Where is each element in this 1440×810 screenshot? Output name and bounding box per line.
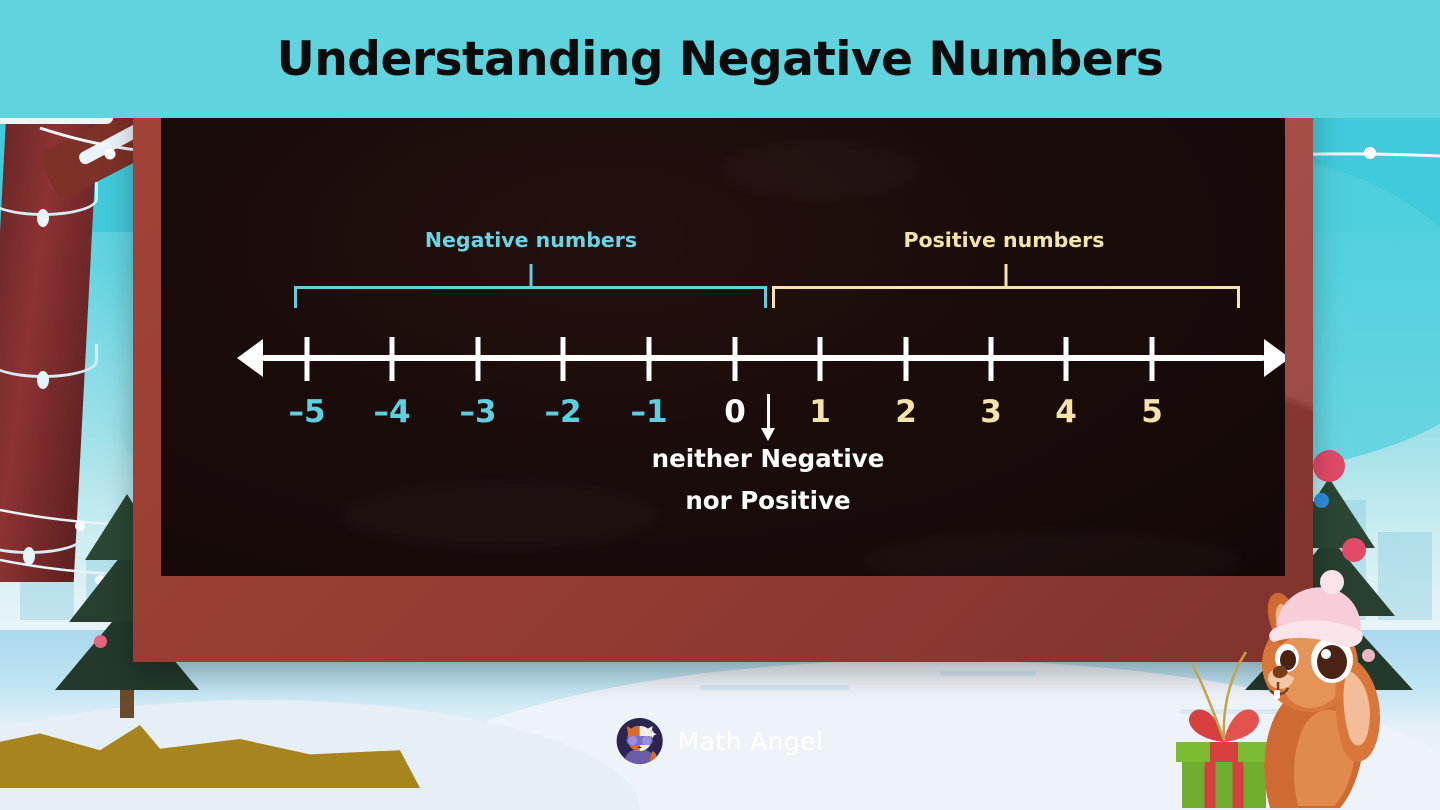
bunny-body	[1262, 570, 1380, 808]
tick-mark	[1064, 337, 1069, 381]
negative-numbers-label: Negative numbers	[425, 228, 637, 252]
tick-mark	[818, 337, 823, 381]
page-title: Understanding Negative Numbers	[277, 32, 1164, 87]
tick-label: 0	[724, 394, 746, 430]
tick-mark	[904, 337, 909, 381]
tick-mark	[305, 337, 310, 381]
tick-mark	[647, 337, 652, 381]
tick-mark	[390, 337, 395, 381]
positive-numbers-label: Positive numbers	[903, 228, 1104, 252]
tick-mark	[733, 337, 738, 381]
ice-line	[700, 685, 850, 690]
bracket-end-left	[294, 286, 297, 308]
bunny-character	[1174, 560, 1424, 810]
bracket-end-right	[764, 286, 767, 308]
arrow-right-icon	[1264, 339, 1285, 377]
title-bar: Understanding Negative Numbers	[0, 0, 1440, 118]
brand-logo: Math Angel	[617, 718, 824, 764]
bracket-center-tick	[1005, 264, 1008, 288]
brand-name: Math Angel	[678, 727, 824, 756]
tick-label: –4	[373, 394, 410, 430]
tick-label: 3	[980, 394, 1002, 430]
negative-range-bracket	[294, 264, 767, 308]
arrow-left-icon	[237, 339, 263, 377]
chalkboard: Negative numbers Positive numbers –5–4–3…	[133, 32, 1313, 662]
number-line-diagram: Negative numbers Positive numbers –5–4–3…	[161, 60, 1285, 576]
number-line-axis	[263, 355, 1264, 361]
tick-mark	[561, 337, 566, 381]
tree-topper-icon	[1313, 450, 1345, 482]
zero-annotation-line1: neither Negative	[652, 438, 885, 480]
gift-box	[1176, 652, 1272, 808]
bracket-bar	[294, 286, 767, 289]
tick-label: 2	[895, 394, 917, 430]
chalkboard-surface: Negative numbers Positive numbers –5–4–3…	[161, 60, 1285, 576]
fox-mascot-icon	[617, 718, 663, 764]
tick-label: 4	[1055, 394, 1077, 430]
zero-annotation: neither Negative nor Positive	[652, 438, 885, 522]
tick-label: –1	[630, 394, 667, 430]
tick-mark	[476, 337, 481, 381]
tick-label: –5	[288, 394, 325, 430]
tick-mark	[989, 337, 994, 381]
tick-label: 5	[1141, 394, 1163, 430]
zero-annotation-line2: nor Positive	[652, 480, 885, 522]
tick-label: 1	[809, 394, 831, 430]
tick-label: –2	[544, 394, 581, 430]
positive-range-bracket	[772, 264, 1240, 308]
tick-mark	[1150, 337, 1155, 381]
bracket-center-tick	[529, 264, 532, 288]
ice-line	[940, 671, 1036, 676]
bracket-end-right	[1237, 286, 1240, 308]
tick-label: –3	[459, 394, 496, 430]
bracket-bar	[772, 286, 1240, 289]
bracket-end-left	[772, 286, 775, 308]
down-arrow-icon	[761, 394, 775, 441]
